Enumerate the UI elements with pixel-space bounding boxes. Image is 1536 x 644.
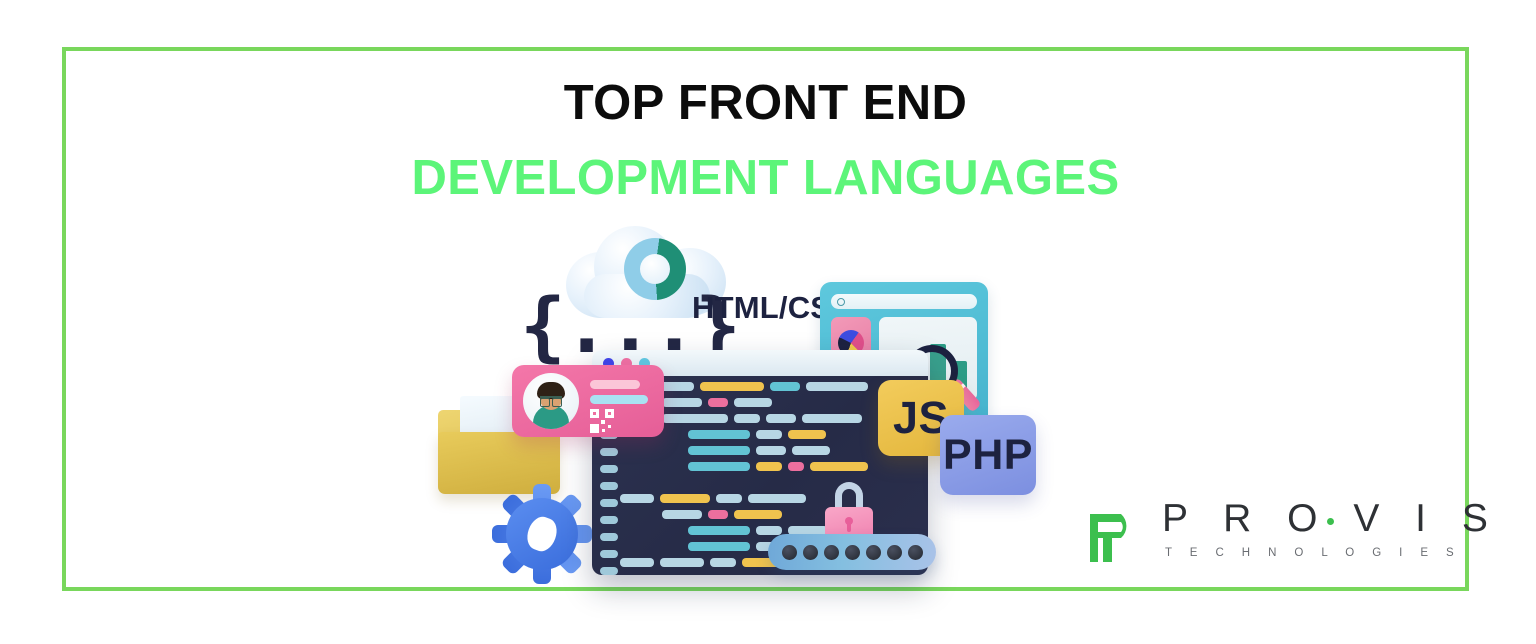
- conveyor-roller: [866, 545, 881, 560]
- id-card-field: [590, 395, 648, 404]
- code-line: [662, 398, 778, 407]
- code-token: [688, 430, 750, 439]
- code-token: [810, 462, 868, 471]
- code-token: [660, 494, 710, 503]
- id-card-icon: [512, 365, 664, 437]
- php-badge: PHP: [940, 415, 1036, 495]
- code-token: [770, 382, 800, 391]
- avatar: [523, 373, 579, 429]
- code-token: [688, 446, 750, 455]
- code-token: [708, 398, 728, 407]
- code-line-number: [600, 482, 618, 490]
- code-token: [734, 414, 760, 423]
- provis-logo-text: P R O V I S T E C H N O L O G I E S: [1162, 496, 1500, 561]
- code-token: [766, 414, 796, 423]
- code-line-number: [600, 448, 618, 456]
- code-token: [788, 430, 826, 439]
- code-line: [662, 414, 868, 423]
- provis-accent-dot: [1327, 518, 1334, 525]
- code-token: [788, 462, 804, 471]
- code-token: [756, 446, 786, 455]
- code-token: [700, 382, 764, 391]
- gear-body: [506, 498, 578, 570]
- search-icon: [831, 294, 977, 309]
- code-token: [802, 414, 862, 423]
- qr-code-icon: [590, 409, 614, 433]
- code-token: [734, 398, 772, 407]
- code-line: [688, 446, 836, 455]
- code-token: [756, 430, 782, 439]
- conveyor-roller: [824, 545, 839, 560]
- code-token: [806, 382, 868, 391]
- provis-tagline: T E C H N O L O G I E S: [1165, 545, 1500, 561]
- code-line: [620, 494, 812, 503]
- conveyor-roller: [887, 545, 902, 560]
- code-token: [620, 558, 654, 567]
- code-line-number: [600, 567, 618, 575]
- code-line-number: [600, 516, 618, 524]
- code-line-number: [600, 499, 618, 507]
- code-token: [756, 462, 782, 471]
- code-token: [792, 446, 830, 455]
- code-line: [662, 510, 788, 519]
- code-token: [662, 510, 702, 519]
- id-card-field: [590, 380, 640, 389]
- code-token: [662, 398, 702, 407]
- padlock-keyhole: [845, 517, 853, 525]
- code-token: [748, 494, 806, 503]
- code-token: [662, 414, 728, 423]
- avatar-glasses: [540, 396, 562, 403]
- code-token: [688, 526, 750, 535]
- code-token: [660, 558, 704, 567]
- code-token: [620, 494, 654, 503]
- code-token: [708, 510, 728, 519]
- conveyor-roller: [803, 545, 818, 560]
- code-token: [734, 510, 782, 519]
- provis-logo-mark: [1076, 498, 1142, 562]
- conveyor-roller: [845, 545, 860, 560]
- provis-logo: P R O V I S T E C H N O L O G I E S: [1076, 496, 1456, 568]
- code-line: [688, 462, 874, 471]
- code-token: [756, 526, 782, 535]
- php-badge-label: PHP: [943, 431, 1033, 480]
- hero-illustration: {...} HTML/CSS: [430, 222, 1062, 574]
- code-line: [688, 430, 832, 439]
- code-token: [688, 542, 750, 551]
- code-line-number: [600, 550, 618, 558]
- code-token: [688, 462, 750, 471]
- conveyor-roller: [908, 545, 923, 560]
- banner-root: TOP FRONT END DEVELOPMENT LANGUAGES {...…: [0, 0, 1536, 644]
- conveyor-belt-icon: [768, 534, 936, 570]
- code-line-number: [600, 465, 618, 473]
- gear-icon: [492, 484, 592, 584]
- code-token: [716, 494, 742, 503]
- code-token: [710, 558, 736, 567]
- conveyor-roller: [782, 545, 797, 560]
- code-line-number: [600, 533, 618, 541]
